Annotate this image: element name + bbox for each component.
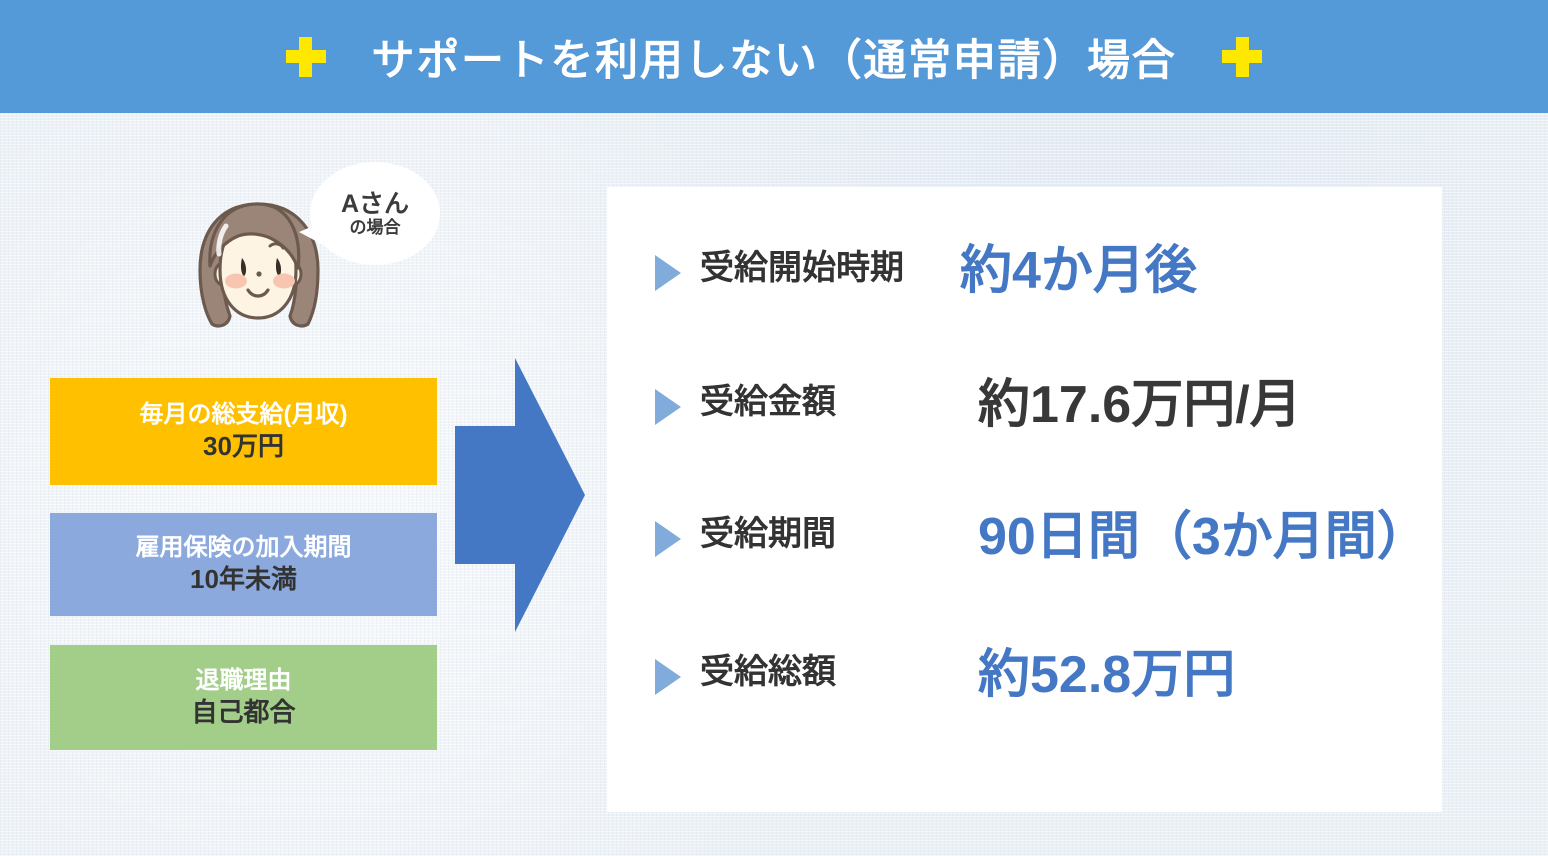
result-row-benefit-period: 受給期間 90日間（3か月間） — [655, 513, 1429, 563]
triangle-right-icon — [655, 659, 681, 695]
page-title: サポートを利用しない（通常申請）場合 — [372, 26, 1177, 88]
triangle-right-icon — [655, 255, 681, 291]
condition-value: 10年未満 — [190, 565, 297, 595]
result-value: 約52.8万円 — [978, 649, 1235, 701]
speech-bubble-sub-text: の場合 — [350, 219, 401, 236]
result-value: 約4か月後 — [960, 245, 1197, 297]
results-card: 受給開始時期 約4か月後 受給金額 約17.6万円/月 受給期間 90日間（3か… — [607, 187, 1442, 812]
plus-icon-left — [286, 37, 326, 77]
result-label: 受給総額 — [700, 653, 836, 691]
result-row-benefit-amount: 受給金額 約17.6万円/月 — [655, 381, 1302, 431]
result-row-total-amount: 受給総額 約52.8万円 — [655, 651, 1235, 701]
result-value: 90日間（3か月間） — [978, 511, 1429, 563]
speech-bubble: Aさん の場合 — [310, 162, 440, 265]
infographic-root: サポートを利用しない（通常申請）場合 — [0, 0, 1548, 856]
condition-value: 自己都合 — [191, 698, 295, 728]
condition-box-insurance-period: 雇用保険の加入期間 10年未満 — [50, 513, 437, 616]
triangle-right-icon — [655, 521, 681, 557]
condition-box-monthly-salary: 毎月の総支給(月収) 30万円 — [50, 378, 437, 485]
condition-title: 毎月の総支給(月収) — [140, 401, 348, 429]
speech-bubble-main-text: Aさん — [341, 192, 409, 217]
condition-title: 退職理由 — [196, 667, 292, 695]
condition-title: 雇用保険の加入期間 — [136, 534, 352, 562]
condition-value: 30万円 — [203, 432, 284, 462]
result-label: 受給開始時期 — [700, 249, 904, 287]
result-label: 受給期間 — [700, 515, 836, 553]
result-value: 約17.6万円/月 — [978, 379, 1302, 431]
result-row-start-timing: 受給開始時期 約4か月後 — [655, 247, 1197, 297]
plus-icon-right — [1222, 37, 1262, 77]
right-arrow-icon — [455, 358, 585, 632]
result-label-wrap: 受給総額 — [700, 651, 836, 694]
condition-box-resignation-reason: 退職理由 自己都合 — [50, 645, 437, 750]
result-label-wrap: 受給開始時期 — [700, 247, 904, 290]
result-label-wrap: 受給期間 — [700, 513, 836, 556]
result-label-wrap: 受給金額 — [700, 381, 836, 424]
header-banner: サポートを利用しない（通常申請）場合 — [0, 0, 1548, 113]
result-label: 受給金額 — [700, 383, 836, 421]
triangle-right-icon — [655, 389, 681, 425]
